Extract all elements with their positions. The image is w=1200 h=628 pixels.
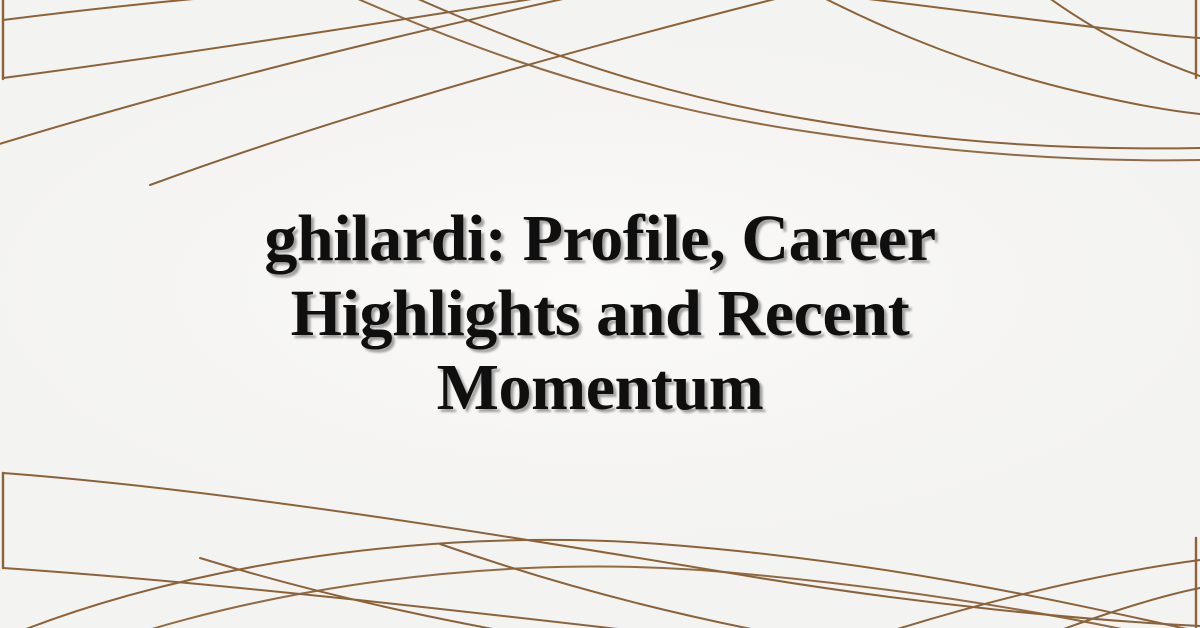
title-card: ghilardi: Profile, Career Highlights and… [0, 0, 1200, 628]
title-container: ghilardi: Profile, Career Highlights and… [0, 0, 1200, 628]
page-title: ghilardi: Profile, Career Highlights and… [200, 202, 1000, 426]
